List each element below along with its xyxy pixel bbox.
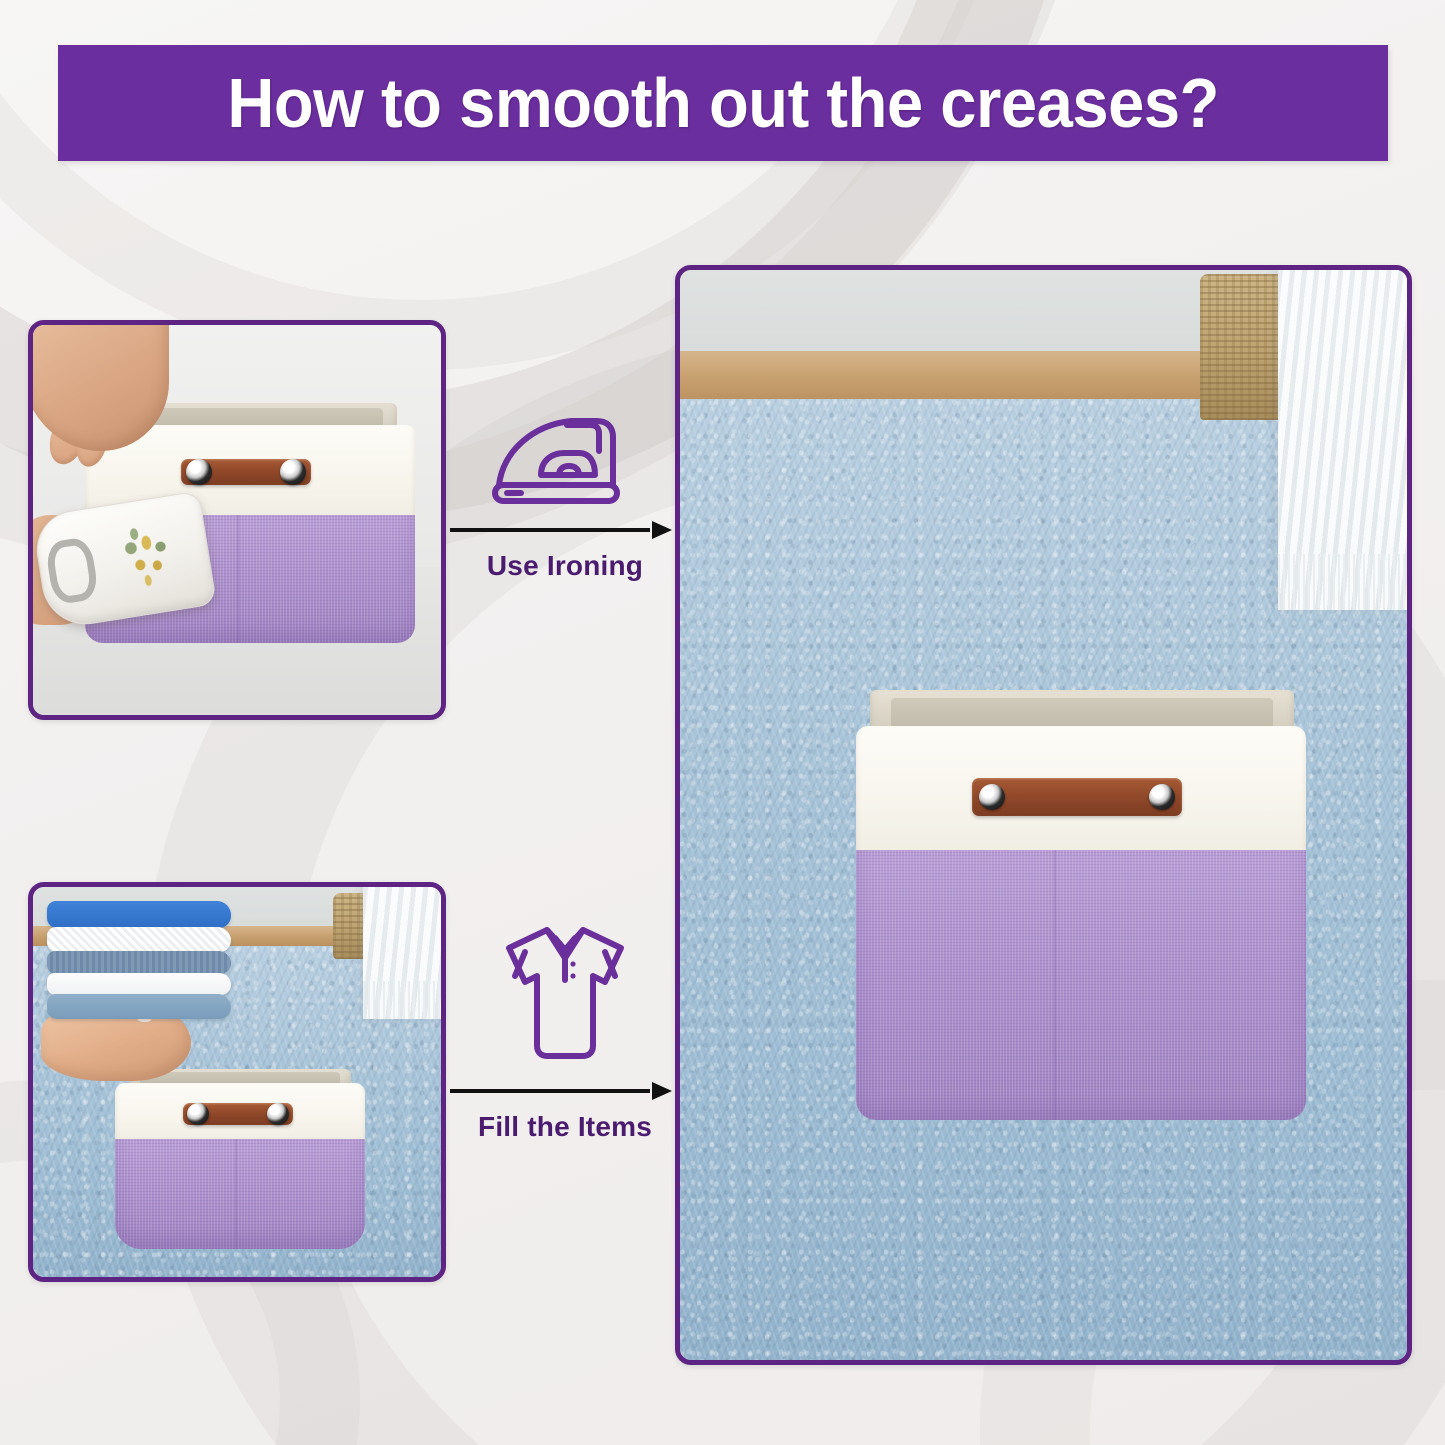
window-curtain	[363, 887, 441, 1019]
arrow-head	[652, 1082, 672, 1100]
iron-sunflower-decal	[108, 516, 186, 600]
window-curtain	[1278, 270, 1407, 610]
arrow-shaft	[450, 1089, 650, 1093]
iron-handle-loop	[44, 536, 99, 606]
bin-leather-handle	[181, 459, 311, 485]
folded-cloth-white-textured	[47, 927, 231, 952]
handle-grommet-right	[267, 1103, 289, 1125]
bin-purple-body	[115, 1139, 365, 1249]
arrow-head	[652, 521, 672, 539]
folded-cloth-grey-ribbed	[47, 951, 231, 974]
arrow-shaft	[450, 528, 650, 532]
bin-seam	[237, 515, 239, 643]
handle-grommet-right	[280, 459, 306, 485]
folded-clothes-stack	[47, 901, 231, 1019]
arrow-right-icon	[450, 519, 672, 541]
bin-seam	[1054, 850, 1056, 1120]
bin-leather-handle	[972, 778, 1182, 816]
folded-cloth-blue	[47, 901, 231, 928]
bin-purple-body	[856, 850, 1306, 1120]
step-label-use-ironing: Use Ironing	[450, 550, 680, 582]
fill-items-photo	[28, 882, 446, 1282]
handle-grommet-left	[187, 1103, 209, 1125]
curtain-fringe	[363, 981, 441, 1019]
step-fill-the-items: Fill the Items	[450, 912, 680, 1143]
folded-cloth-denim	[47, 994, 231, 1019]
title-banner: How to smooth out the creases?	[58, 45, 1388, 161]
handle-grommet-right	[1149, 784, 1175, 810]
clothes-iron-icon	[450, 393, 680, 511]
polo-shirt-icon	[450, 912, 680, 1072]
arrow-right-icon	[450, 1080, 672, 1102]
bin-leather-handle	[183, 1103, 293, 1125]
handle-grommet-left	[186, 459, 212, 485]
page-title: How to smooth out the creases?	[227, 63, 1219, 143]
bin-seam	[235, 1139, 237, 1249]
ironing-basket-photo	[28, 320, 446, 720]
step-label-fill-the-items: Fill the Items	[450, 1111, 680, 1143]
storage-bin-empty	[115, 1069, 365, 1249]
handle-grommet-left	[979, 784, 1005, 810]
finished-bin-photo	[675, 265, 1412, 1365]
folded-cloth-white	[47, 973, 231, 995]
step-use-ironing: Use Ironing	[450, 393, 680, 582]
storage-bin-hero	[856, 690, 1306, 1120]
curtain-fringe	[1278, 554, 1407, 610]
